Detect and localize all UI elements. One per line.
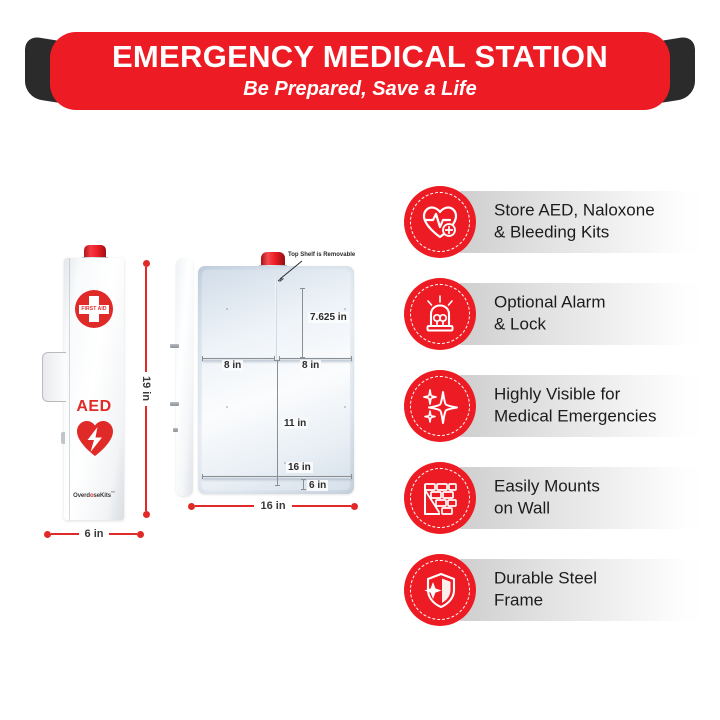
callout-line-top — [145, 267, 147, 372]
brand-prefix: Overd — [73, 493, 90, 499]
feature-icon-badge — [404, 462, 476, 534]
feature-item-durable-steel: Durable Steel Frame — [404, 554, 704, 626]
feature-line-1: Highly Visible for — [494, 384, 657, 406]
screw-dot — [226, 406, 228, 408]
cabinet-open-door — [176, 258, 193, 496]
dimension-label-6in-lip: 6 in — [307, 480, 328, 491]
feature-line-2: Frame — [494, 590, 597, 612]
feature-icon-badge — [404, 370, 476, 442]
dimension-label-8in-right: 8 in — [300, 360, 321, 371]
feature-text: Highly Visible for Medical Emergencies — [494, 384, 657, 429]
brand-logo: OverdoseKits™ — [64, 490, 124, 499]
feature-icon-badge — [404, 278, 476, 350]
banner-plate: EMERGENCY MEDICAL STATION Be Prepared, S… — [50, 32, 670, 110]
dimension-height-label: 19 in — [140, 372, 152, 405]
tech-cap — [202, 474, 203, 479]
cabinet-side-handle — [42, 352, 66, 402]
tech-cap — [275, 485, 280, 486]
feature-icon-badge — [404, 554, 476, 626]
dimension-width-callout: 6 in — [44, 528, 144, 540]
feature-item-easily-mounts: Easily Mounts on Wall — [404, 462, 704, 534]
tech-cap — [301, 489, 306, 490]
callout-dot-top — [143, 260, 150, 267]
callout-dot-right — [351, 503, 358, 510]
shield-spark-icon — [420, 570, 460, 610]
note-leader-line — [277, 260, 303, 282]
feature-icon-badge — [404, 186, 476, 258]
callout-line-right — [109, 533, 137, 535]
screw-dot — [226, 308, 228, 310]
callout-line-right — [292, 505, 351, 507]
infographic-page: EMERGENCY MEDICAL STATION Be Prepared, S… — [0, 0, 720, 720]
tech-line-16in-interior — [202, 476, 352, 477]
feature-item-highly-visible: Highly Visible for Medical Emergencies — [404, 370, 704, 442]
feature-line-1: Durable Steel — [494, 568, 597, 590]
feature-text: Easily Mounts on Wall — [494, 476, 600, 521]
product-open-view: Top Shelf is Removable 7.625 in 8 in 8 i… — [176, 252, 366, 522]
cabinet-divider-upper — [275, 276, 277, 360]
product-front-view: FIRST AID AED OverdoseKits™ 19 in — [20, 232, 170, 544]
hinge-pin — [170, 402, 179, 406]
feature-text: Store AED, Naloxone & Bleeding Kits — [494, 200, 655, 245]
tech-cap — [202, 356, 203, 361]
panel-seam — [69, 258, 70, 520]
tech-cap — [351, 474, 352, 479]
feature-item-optional-alarm: Optional Alarm & Lock — [404, 278, 704, 350]
feature-list: Store AED, Naloxone & Bleeding Kits — [404, 186, 704, 646]
tech-line-8in-right — [279, 358, 352, 359]
top-shelf-note: Top Shelf is Removable — [288, 252, 355, 258]
tech-cap — [351, 356, 352, 361]
feature-line-2: Medical Emergencies — [494, 406, 657, 428]
feature-text: Durable Steel Frame — [494, 568, 597, 613]
callout-line-left — [195, 505, 254, 507]
first-aid-badge: FIRST AID — [75, 290, 113, 328]
feature-text: Optional Alarm & Lock — [494, 292, 606, 337]
dimension-overall-width-callout: 16 in — [188, 500, 358, 512]
dimension-width-label: 6 in — [79, 528, 110, 540]
page-title: EMERGENCY MEDICAL STATION — [112, 41, 608, 74]
alarm-siren-icon — [420, 294, 460, 334]
hinge-pin — [173, 428, 178, 432]
feature-line-2: & Bleeding Kits — [494, 222, 655, 244]
brick-wall-mount-icon — [420, 478, 460, 518]
feature-line-1: Easily Mounts — [494, 476, 600, 498]
feature-line-1: Optional Alarm — [494, 292, 606, 314]
dimension-label-8in-left: 8 in — [222, 360, 243, 371]
header-banner: EMERGENCY MEDICAL STATION Be Prepared, S… — [0, 22, 720, 120]
aed-label: AED — [64, 398, 124, 416]
dimension-height-callout: 19 in — [140, 260, 152, 518]
dimension-label-16in-interior: 16 in — [286, 462, 313, 473]
hinge-pin — [170, 344, 179, 348]
tech-line-11in — [277, 360, 278, 486]
callout-dot-left — [188, 503, 195, 510]
brand-trademark: ™ — [111, 490, 115, 495]
tech-line-7625 — [302, 288, 303, 358]
dimension-overall-width-label: 16 in — [254, 500, 291, 512]
tech-line-8in-left — [202, 358, 275, 359]
callout-dot-right — [137, 531, 144, 538]
feature-line-2: & Lock — [494, 314, 606, 336]
page-subtitle: Be Prepared, Save a Life — [243, 78, 476, 101]
dimension-label-11in: 11 in — [282, 418, 308, 429]
screw-dot — [344, 308, 346, 310]
feature-line-1: Store AED, Naloxone — [494, 200, 655, 222]
sparkle-shine-icon — [420, 386, 460, 426]
tech-cap — [275, 360, 280, 361]
dimension-label-7625: 7.625 in — [308, 312, 349, 323]
callout-dot-bottom — [143, 511, 150, 518]
callout-dot-left — [44, 531, 51, 538]
cabinet-latch — [61, 432, 65, 444]
callout-line-bottom — [145, 406, 147, 511]
heart-pulse-plus-icon — [420, 202, 460, 242]
brand-suffix: seKits — [94, 493, 111, 499]
tech-cap — [301, 479, 306, 480]
screw-dot — [344, 406, 346, 408]
aed-heart-bolt-icon — [75, 418, 113, 456]
feature-line-2: on Wall — [494, 498, 600, 520]
callout-line-left — [51, 533, 79, 535]
first-aid-badge-label: FIRST AID — [75, 306, 113, 312]
cabinet-front-panel: FIRST AID AED OverdoseKits™ — [64, 258, 124, 520]
tech-cap — [300, 288, 305, 289]
feature-item-store-aed: Store AED, Naloxone & Bleeding Kits — [404, 186, 704, 258]
